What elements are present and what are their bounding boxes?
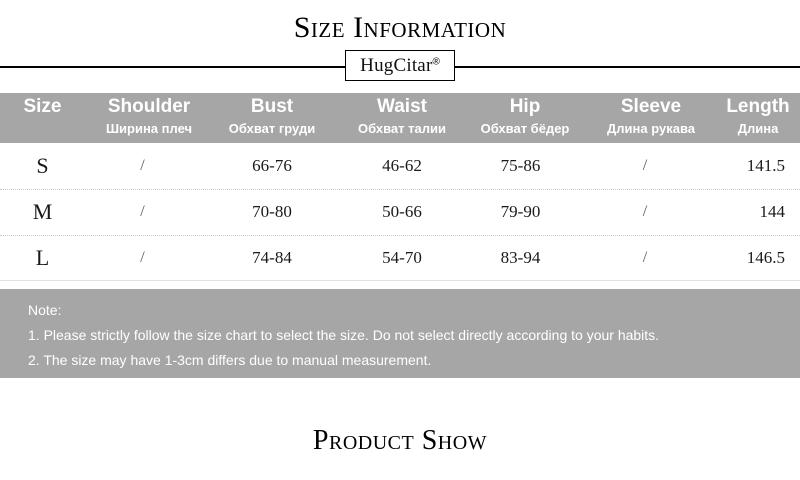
table-bottom-border: [0, 280, 800, 281]
cell-sleeve: /: [586, 235, 704, 281]
product-show-heading: Product Show: [0, 424, 800, 458]
cell-waist: 46-62: [341, 143, 463, 189]
column-header-waist: Waist Обхват талии: [341, 93, 463, 137]
cell-sleeve: /: [586, 189, 704, 235]
cell-sleeve: /: [586, 143, 704, 189]
cell-shoulder: /: [85, 143, 200, 189]
column-header-hip: Hip Обхват бёдер: [464, 93, 586, 137]
column-header-bust: Bust Обхват груди: [213, 93, 331, 137]
note-item-1: 1. Please strictly follow the size chart…: [28, 323, 800, 348]
cell-bust: 74-84: [213, 235, 331, 281]
cell-hip: 75-86: [464, 143, 577, 189]
table-row: M / 70-80 50-66 79-90 / 144: [0, 189, 800, 235]
cell-waist: 50-66: [341, 189, 463, 235]
column-header-size: Size: [0, 93, 85, 120]
column-header-length: Length Длина: [716, 93, 800, 137]
cell-waist: 54-70: [341, 235, 463, 281]
cell-length: 141.5: [700, 143, 785, 189]
cell-hip: 83-94: [464, 235, 577, 281]
table-row: L / 74-84 54-70 83-94 / 146.5: [0, 235, 800, 281]
column-header-shoulder: Shoulder Ширина плеч: [85, 93, 213, 137]
cell-size: M: [0, 189, 85, 235]
cell-bust: 66-76: [213, 143, 331, 189]
note-heading: Note:: [28, 298, 800, 323]
cell-size: S: [0, 143, 85, 189]
cell-length: 144: [700, 189, 785, 235]
note-section: Note: 1. Please strictly follow the size…: [0, 289, 800, 378]
registered-trademark-icon: ®: [432, 57, 439, 68]
cell-size: L: [0, 235, 85, 281]
cell-shoulder: /: [85, 235, 200, 281]
brand-logo: HugCitar®: [345, 50, 455, 81]
note-item-2: 2. The size may have 1-3cm differs due t…: [28, 348, 800, 373]
size-chart-table: Size Shoulder Ширина плеч Bust Обхват гр…: [0, 93, 800, 281]
table-row: S / 66-76 46-62 75-86 / 141.5: [0, 143, 800, 189]
brand-logo-text: HugCitar: [360, 55, 432, 76]
cell-hip: 79-90: [464, 189, 577, 235]
column-header-sleeve: Sleeve Длина рукава: [586, 93, 716, 137]
table-header-row: Size Shoulder Ширина плеч Bust Обхват гр…: [0, 93, 800, 143]
page-title: Size Information: [0, 10, 800, 46]
cell-shoulder: /: [85, 189, 200, 235]
cell-bust: 70-80: [213, 189, 331, 235]
cell-length: 146.5: [700, 235, 785, 281]
